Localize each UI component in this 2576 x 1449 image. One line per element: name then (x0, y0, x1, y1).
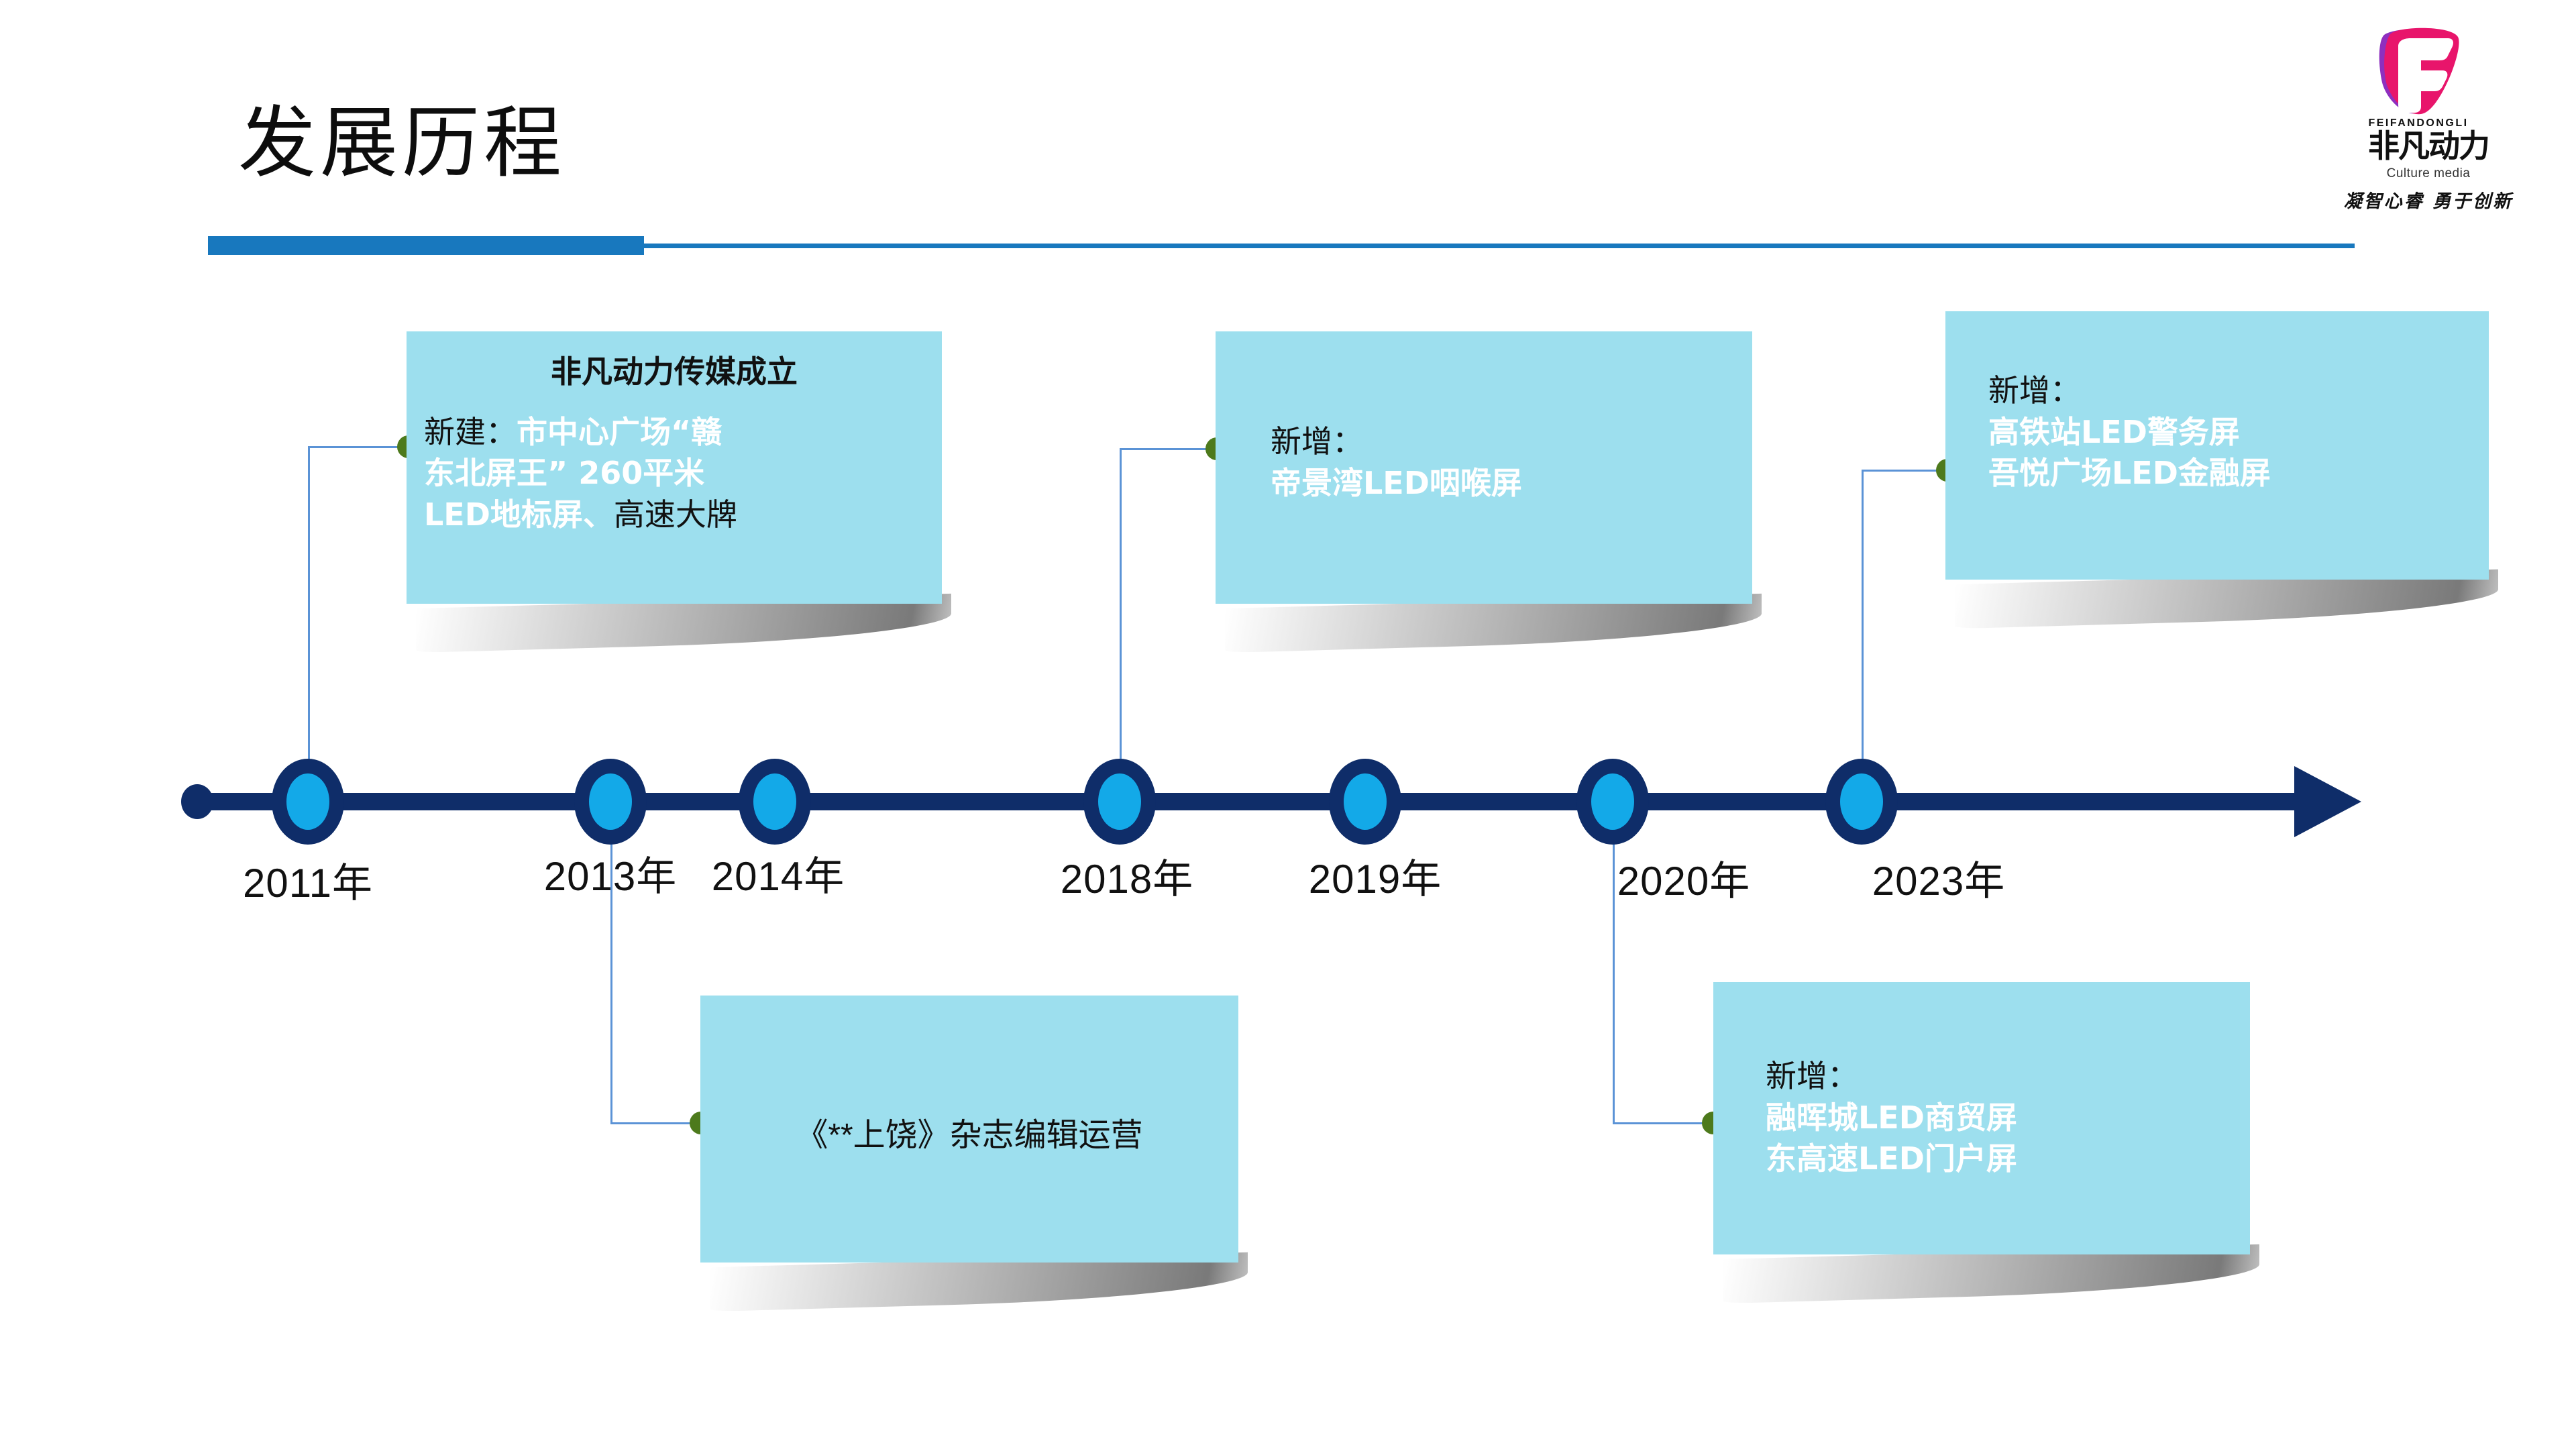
timeline-node-2023[interactable] (1825, 759, 1898, 845)
year-label-2014: 2014年 (712, 844, 845, 902)
timeline-axis (195, 793, 2324, 810)
timeline-node-2011[interactable] (272, 759, 344, 845)
connector-2023-horizontal (1862, 470, 1947, 472)
connector-2018-horizontal (1120, 448, 1217, 450)
connector-2011-vertical (308, 446, 310, 795)
card-2011-body: 新建：市中心广场“赣 东北屏王” 260平米 LED地标屏、高速大牌 (424, 412, 924, 536)
card-2023-highlight-2: 吾悦广场LED金融屏 (1988, 453, 2271, 494)
card-2023-highlight-1: 高铁站LED警务屏 (1988, 412, 2271, 453)
card-2018-body: 新增： 帝景湾LED咽喉屏 (1271, 421, 1522, 504)
logo-slogan: 凝智心睿 勇于创新 (2318, 186, 2539, 213)
connector-2018-vertical (1120, 448, 1122, 795)
logo-subtitle: Culture media (2318, 166, 2539, 181)
slide-canvas: 发展历程 FEIFANDONGLI 非凡动力 Culture media 凝智心… (0, 0, 2576, 1449)
year-label-2018: 2018年 (1061, 847, 1193, 905)
card-shadow (1955, 570, 2498, 629)
logo-name-cn: 非凡动力 (2318, 131, 2539, 162)
timeline-node-2018[interactable] (1083, 759, 1156, 845)
year-label-2019: 2019年 (1309, 847, 1442, 905)
card-2020-highlight-1: 融晖城LED商贸屏 (1766, 1097, 2017, 1139)
milestone-card-2023[interactable]: 新增： 高铁站LED警务屏 吾悦广场LED金融屏 (1945, 311, 2489, 580)
card-2011-highlight-1: 市中心广场“赣 (517, 414, 722, 450)
year-label-2020: 2020年 (1617, 849, 1750, 907)
timeline-node-2014[interactable] (739, 759, 811, 845)
year-label-2013: 2013年 (544, 844, 677, 902)
card-2011-label: 新建： (424, 414, 517, 450)
f-logo-icon (2359, 23, 2467, 117)
card-2018-highlight-1: 帝景湾LED咽喉屏 (1271, 463, 1522, 504)
card-2020-label: 新增： (1766, 1056, 2017, 1097)
card-2013-text: 《**上饶》杂志编辑运营 (700, 1108, 1238, 1155)
card-shadow (416, 594, 951, 653)
card-2011-heading: 非凡动力传媒成立 (424, 353, 924, 392)
card-2011-highlight-3: LED地标屏、 (424, 496, 614, 533)
card-2023-label: 新增： (1988, 370, 2271, 412)
card-shadow (1225, 594, 1762, 653)
connector-2023-vertical (1862, 470, 1864, 795)
page-title: 发展历程 (238, 104, 566, 182)
milestone-card-2018[interactable]: 新增： 帝景湾LED咽喉屏 (1216, 331, 1752, 604)
company-logo: FEIFANDONGLI 非凡动力 Culture media 凝智心睿 勇于创… (2318, 23, 2539, 218)
milestone-card-2013[interactable]: 《**上饶》杂志编辑运营 (700, 996, 1238, 1263)
title-accent-rule (641, 244, 2355, 248)
card-2020-highlight-2: 东高速LED门户屏 (1766, 1138, 2017, 1180)
connector-2011-horizontal (308, 446, 409, 448)
title-accent-bar (208, 236, 644, 255)
card-2011-highlight-2: 东北屏王” 260平米 (424, 455, 704, 491)
card-2023-body: 新增： 高铁站LED警务屏 吾悦广场LED金融屏 (1988, 370, 2271, 494)
card-2018-label: 新增： (1271, 421, 1522, 463)
axis-arrow-icon (2294, 766, 2361, 837)
timeline-node-2019[interactable] (1329, 759, 1401, 845)
connector-2020-vertical (1613, 812, 1615, 1124)
year-label-2011: 2011年 (243, 851, 373, 909)
card-2011-tail: 高速大牌 (614, 496, 737, 533)
connector-2020-horizontal (1613, 1122, 1713, 1124)
connector-2013-horizontal (610, 1122, 701, 1124)
card-shadow (1723, 1244, 2259, 1303)
year-label-2023: 2023年 (1872, 849, 2005, 907)
card-2020-body: 新增： 融晖城LED商贸屏 东高速LED门户屏 (1766, 1056, 2017, 1180)
milestone-card-2020[interactable]: 新增： 融晖城LED商贸屏 东高速LED门户屏 (1713, 982, 2250, 1254)
timeline-node-2013[interactable] (574, 759, 647, 845)
card-shadow (710, 1252, 1248, 1311)
timeline-node-2020[interactable] (1576, 759, 1649, 845)
milestone-card-2011[interactable]: 非凡动力传媒成立 新建：市中心广场“赣 东北屏王” 260平米 LED地标屏、高… (407, 331, 942, 604)
